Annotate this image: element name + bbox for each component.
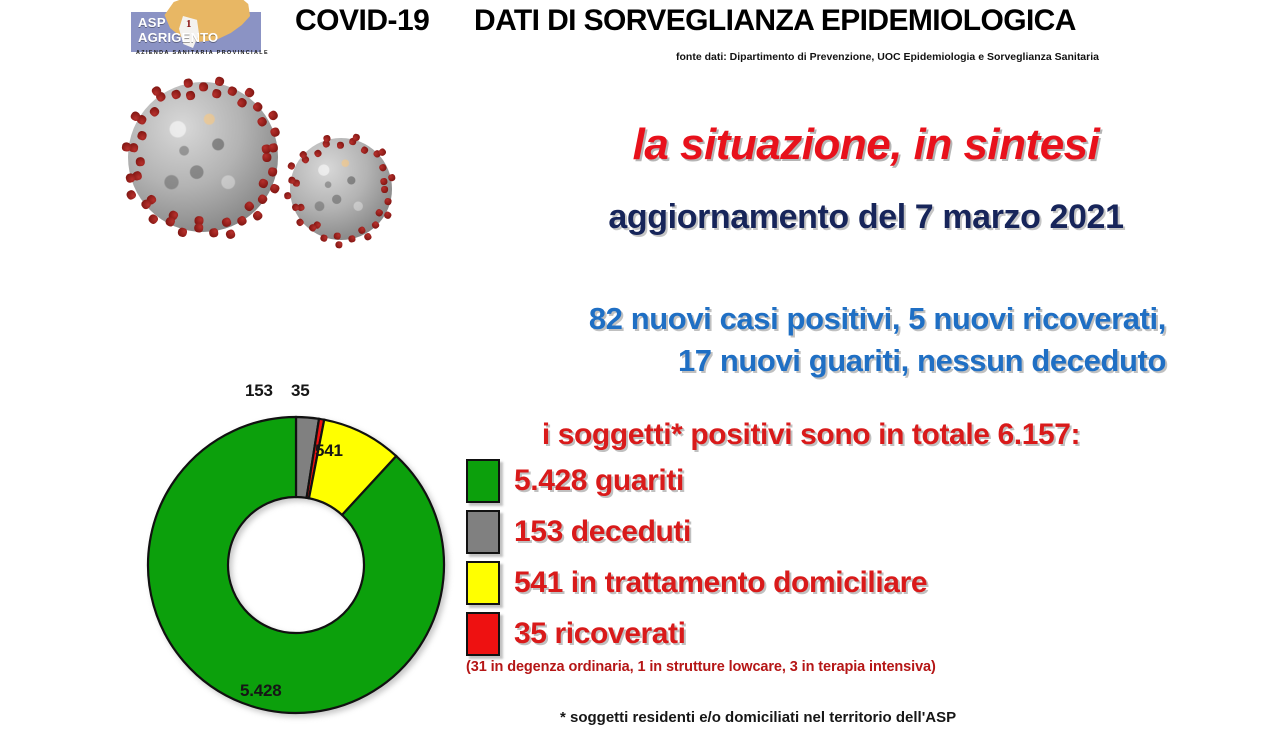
legend-swatch-gray bbox=[466, 510, 500, 554]
donut-slice-3 bbox=[148, 417, 444, 713]
legend-swatch-green bbox=[466, 459, 500, 503]
virus-spike bbox=[268, 142, 278, 152]
donut-label-domiciliare: 541 bbox=[315, 441, 343, 461]
virus-particle-small bbox=[290, 138, 392, 240]
logo-asp-text: ASP bbox=[138, 15, 166, 30]
daily-news-text: 82 nuovi casi positivi, 5 nuovi ricovera… bbox=[446, 298, 1166, 382]
virus-spike bbox=[333, 232, 341, 240]
data-source-line: fonte dati: Dipartimento di Prevenzione,… bbox=[676, 51, 1099, 63]
page-title: DATI DI SORVEGLIANZA EPIDEMIOLOGICA bbox=[474, 4, 1076, 38]
virus-spike bbox=[135, 156, 145, 166]
virus-spike bbox=[335, 241, 342, 248]
virus-particle-large bbox=[128, 82, 278, 232]
virus-spike bbox=[287, 176, 295, 184]
virus-spike bbox=[199, 82, 208, 91]
virus-spike bbox=[347, 234, 355, 242]
logo-region-number: 1 bbox=[186, 18, 192, 30]
donut-label-deceduti: 153 bbox=[245, 381, 273, 401]
virus-spike bbox=[267, 166, 278, 177]
legend-swatch-yellow bbox=[466, 561, 500, 605]
legend-item-deceduti: 153 deceduti bbox=[446, 510, 1176, 554]
virus-spike bbox=[193, 223, 203, 233]
legend-label-ricoverati: 35 ricoverati bbox=[514, 617, 686, 651]
covid-label: COVID-19 bbox=[295, 4, 429, 38]
asp-agrigento-logo: 1 ASP AGRIGENTO AZIENDA SANITARIA PROVIN… bbox=[131, 0, 261, 58]
virus-surface-texture bbox=[298, 146, 384, 232]
daily-news-line-2: 17 nuovi guariti, nessun deceduto bbox=[446, 340, 1166, 382]
virus-spike bbox=[379, 177, 387, 185]
virus-spike bbox=[351, 133, 360, 142]
daily-news-line-1: 82 nuovi casi positivi, 5 nuovi ricovera… bbox=[446, 298, 1166, 340]
update-date: aggiornamento del 7 marzo 2021 bbox=[566, 198, 1166, 237]
virus-spike bbox=[185, 90, 196, 101]
logo-city-text: AGRIGENTO bbox=[138, 30, 218, 45]
legend: i soggetti* positivi sono in totale 6.15… bbox=[446, 418, 1176, 675]
virus-spike bbox=[381, 186, 388, 193]
legend-note-ricoverati-breakdown: (31 in degenza ordinaria, 1 in strutture… bbox=[446, 659, 1176, 675]
virus-spike bbox=[283, 191, 291, 199]
coronavirus-illustration bbox=[122, 76, 442, 248]
footnote: * soggetti residenti e/o domiciliati nel… bbox=[560, 709, 1260, 726]
legend-title: i soggetti* positivi sono in totale 6.15… bbox=[446, 418, 1176, 452]
donut-label-ricoverati: 35 bbox=[291, 381, 310, 401]
legend-label-domiciliare: 541 in trattamento domiciliare bbox=[514, 566, 927, 600]
virus-spike bbox=[387, 173, 395, 181]
donut-chart: 153 35 541 5.428 bbox=[131, 400, 461, 730]
donut-chart-svg bbox=[131, 400, 461, 730]
donut-label-guariti: 5.428 bbox=[240, 681, 282, 701]
infographic-canvas: 1 ASP AGRIGENTO AZIENDA SANITARIA PROVIN… bbox=[0, 0, 1280, 720]
legend-label-guariti: 5.428 guariti bbox=[514, 464, 684, 498]
virus-spike bbox=[208, 227, 218, 237]
logo-subtitle: AZIENDA SANITARIA PROVINCIALE bbox=[136, 50, 269, 56]
virus-spike bbox=[211, 88, 222, 99]
virus-spike bbox=[383, 197, 392, 206]
summary-headline: la situazione, in sintesi bbox=[566, 120, 1166, 170]
virus-spike bbox=[336, 141, 343, 148]
virus-spike bbox=[182, 77, 193, 88]
legend-swatch-red bbox=[466, 612, 500, 656]
virus-spike bbox=[224, 228, 235, 239]
virus-spike bbox=[214, 76, 225, 87]
legend-label-deceduti: 153 deceduti bbox=[514, 515, 691, 549]
virus-spike bbox=[121, 141, 131, 151]
legend-item-guariti: 5.428 guariti bbox=[446, 459, 1176, 503]
donut-slices bbox=[148, 417, 444, 713]
legend-item-domiciliare: 541 in trattamento domiciliare bbox=[446, 561, 1176, 605]
virus-spike bbox=[124, 172, 135, 183]
legend-item-ricoverati: 35 ricoverati bbox=[446, 612, 1176, 656]
virus-spike bbox=[262, 153, 271, 162]
virus-spike bbox=[322, 134, 331, 143]
